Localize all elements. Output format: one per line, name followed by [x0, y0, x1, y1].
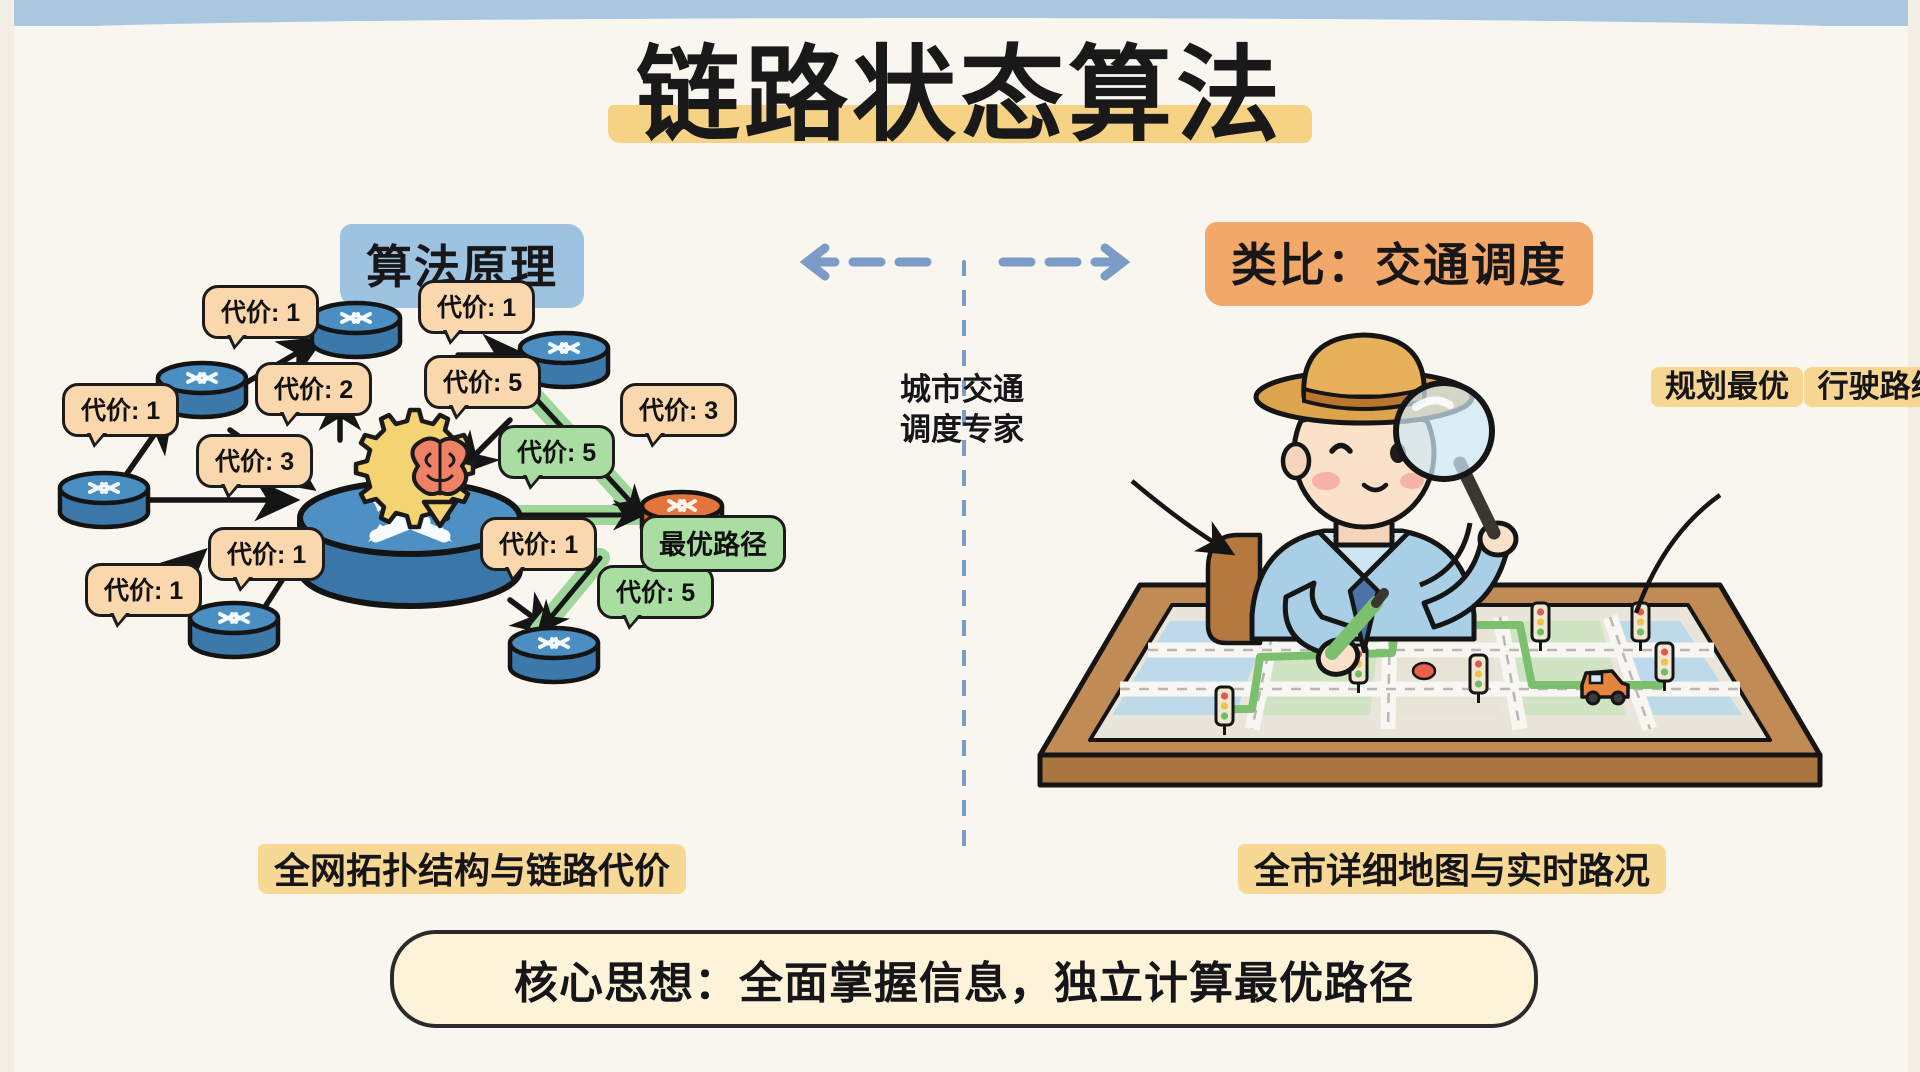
paper-right-edge	[1908, 0, 1920, 1072]
cost-label-c11: 代价: 5	[498, 425, 615, 479]
annotation-route-line1: 规划最优	[1665, 369, 1789, 404]
page-title: 链路状态算法	[0, 42, 1920, 151]
cost-label-c3: 代价: 1	[418, 280, 535, 334]
paper-top-edge	[0, 0, 1920, 26]
divider-arrows	[795, 242, 1135, 282]
caption-bar-right: 全市详细地图与实时路况	[1238, 838, 1666, 898]
cost-label-c8: 代价: 1	[208, 527, 325, 581]
infographic-canvas: 链路状态算法 算法原理 类比：交通调度	[0, 0, 1920, 1072]
annotation-expert-line2: 调度专家	[900, 410, 1024, 450]
cost-label-c4: 代价: 2	[255, 362, 372, 416]
best-path-label: 最优路径	[640, 515, 786, 572]
paper-left-edge	[0, 0, 14, 1072]
cost-label-c1: 代价: 1	[62, 383, 179, 437]
cost-label-c12: 代价: 5	[597, 565, 714, 619]
annotation-route-line1-wrap: 规划最优	[1655, 365, 1799, 409]
annotation-route-line2: 行驶路线	[1818, 369, 1920, 404]
cost-label-c10: 代价: 1	[85, 563, 202, 617]
cost-label-c9: 代价: 1	[480, 517, 597, 571]
traffic-expert-figure	[1252, 335, 1516, 679]
annotation-route-line2-wrap: 行驶路线	[1808, 365, 1920, 409]
summary-text: 核心思想：全面掌握信息，独立计算最优路径	[514, 947, 1414, 1011]
cost-label-c7: 代价: 3	[620, 383, 737, 437]
title-text: 链路状态算法	[636, 38, 1284, 154]
cost-label-c5: 代价: 5	[424, 355, 541, 409]
panel-divider	[962, 260, 966, 855]
annotation-expert: 城市交通 调度专家	[900, 370, 1024, 451]
annotation-expert-line1: 城市交通	[900, 370, 1024, 410]
summary-box: 核心思想：全面掌握信息，独立计算最优路径	[390, 930, 1538, 1028]
cost-label-c2: 代价: 1	[202, 285, 319, 339]
caption-bar-left: 全网拓扑结构与链路代价	[258, 838, 686, 898]
cost-label-c6: 代价: 3	[196, 434, 313, 488]
annotation-route: 规划最优 行驶路线	[1655, 365, 1920, 409]
